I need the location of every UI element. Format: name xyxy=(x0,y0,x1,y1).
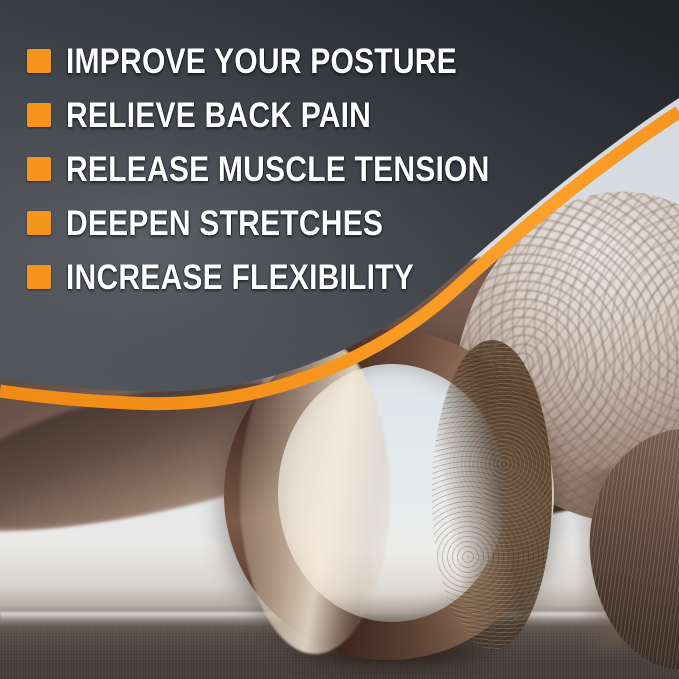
benefit-label: RELIEVE BACK PAIN xyxy=(66,98,371,133)
benefit-label: IMPROVE YOUR POSTURE xyxy=(66,44,457,79)
orange-square-bullet-icon xyxy=(27,211,51,235)
benefit-label: DEEPEN STRETCHES xyxy=(66,206,383,241)
list-item: INCREASE FLEXIBILITY xyxy=(27,250,587,304)
list-item: IMPROVE YOUR POSTURE xyxy=(27,34,587,88)
list-item: DEEPEN STRETCHES xyxy=(27,196,587,250)
orange-square-bullet-icon xyxy=(27,103,51,127)
benefits-list: IMPROVE YOUR POSTURE RELIEVE BACK PAIN R… xyxy=(27,34,587,304)
list-item: RELIEVE BACK PAIN xyxy=(27,88,587,142)
orange-square-bullet-icon xyxy=(27,265,51,289)
benefit-label: INCREASE FLEXIBILITY xyxy=(66,260,414,295)
list-item: RELEASE MUSCLE TENSION xyxy=(27,142,587,196)
orange-square-bullet-icon xyxy=(27,157,51,181)
orange-square-bullet-icon xyxy=(27,49,51,73)
product-benefits-poster: IMPROVE YOUR POSTURE RELIEVE BACK PAIN R… xyxy=(0,0,679,679)
benefit-label: RELEASE MUSCLE TENSION xyxy=(66,152,490,187)
